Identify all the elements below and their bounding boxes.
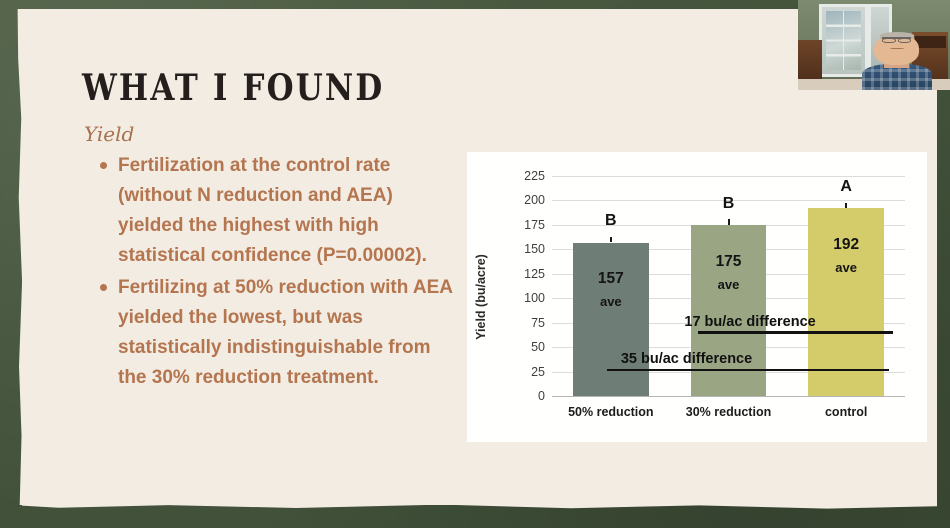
list-item: Fertilizing at 50% reduction with AEA yi… [100, 273, 460, 393]
page-subtitle: Yield [84, 122, 134, 146]
chart-y-tick-label: 0 [538, 389, 545, 403]
list-item: Fertilization at the control rate (witho… [100, 151, 460, 271]
webcam-presenter-mouth [890, 48, 904, 50]
chart-y-tick-label: 50 [531, 340, 545, 354]
chart-error-bar [728, 219, 730, 225]
chart-difference-annotation: 17 bu/ac difference [684, 314, 815, 330]
chart-y-tick-label: 25 [531, 365, 545, 379]
chart-bar-value-sublabel: ave [718, 277, 740, 292]
bullet-text: Fertilization at the control rate (witho… [118, 151, 460, 271]
chart-y-tick-label: 125 [524, 267, 545, 281]
chart-significance-letter: A [840, 178, 852, 196]
chart-error-bar [610, 237, 612, 243]
webcam-presenter-head [874, 34, 919, 65]
chart-bar-value: 192 [833, 236, 859, 254]
chart-y-tick-label: 175 [524, 218, 545, 232]
bullet-dot-icon [100, 162, 107, 169]
chart-y-tick-label: 150 [524, 242, 545, 256]
presenter-webcam-video[interactable] [798, 0, 950, 90]
chart-gridline [552, 176, 905, 177]
chart-bar[interactable] [573, 243, 649, 397]
chart-bar-value-sublabel: ave [600, 294, 622, 309]
yield-bar-chart: Yield (bu/acre) 225200175150125100755025… [467, 152, 927, 442]
chart-difference-line [698, 331, 892, 334]
bullet-list: Fertilization at the control rate (witho… [100, 151, 460, 395]
chart-significance-letter: B [605, 212, 617, 230]
chart-x-tick-label: control [825, 405, 867, 419]
chart-y-axis-label: Yield (bu/acre) [474, 254, 488, 340]
chart-y-tick-label: 100 [524, 291, 545, 305]
webcam-presenter-shirt [862, 64, 932, 90]
webcam-furniture-left [798, 40, 822, 81]
bullet-dot-icon [100, 284, 107, 291]
chart-plot-area: 2252001751501251007550250B157ave50% redu… [552, 176, 905, 396]
chart-gridline [552, 396, 905, 397]
webcam-presenter [862, 34, 932, 90]
chart-x-tick-label: 30% reduction [686, 405, 771, 419]
glasses-icon [882, 37, 911, 42]
chart-bar-value-sublabel: ave [835, 260, 857, 275]
chart-significance-letter: B [723, 195, 735, 213]
chart-difference-line [607, 369, 889, 372]
chart-y-tick-label: 225 [524, 169, 545, 183]
chart-error-bar [845, 203, 847, 209]
bullet-text: Fertilizing at 50% reduction with AEA yi… [118, 273, 460, 393]
chart-y-tick-label: 200 [524, 193, 545, 207]
webcam-french-door [819, 4, 868, 78]
chart-bar-value: 175 [716, 253, 742, 271]
chart-bar-value: 157 [598, 270, 624, 288]
page-title: WHAT I FOUND [82, 67, 384, 109]
chart-x-tick-label: 50% reduction [568, 405, 653, 419]
chart-y-tick-label: 75 [531, 316, 545, 330]
chart-difference-annotation: 35 bu/ac difference [621, 351, 752, 367]
